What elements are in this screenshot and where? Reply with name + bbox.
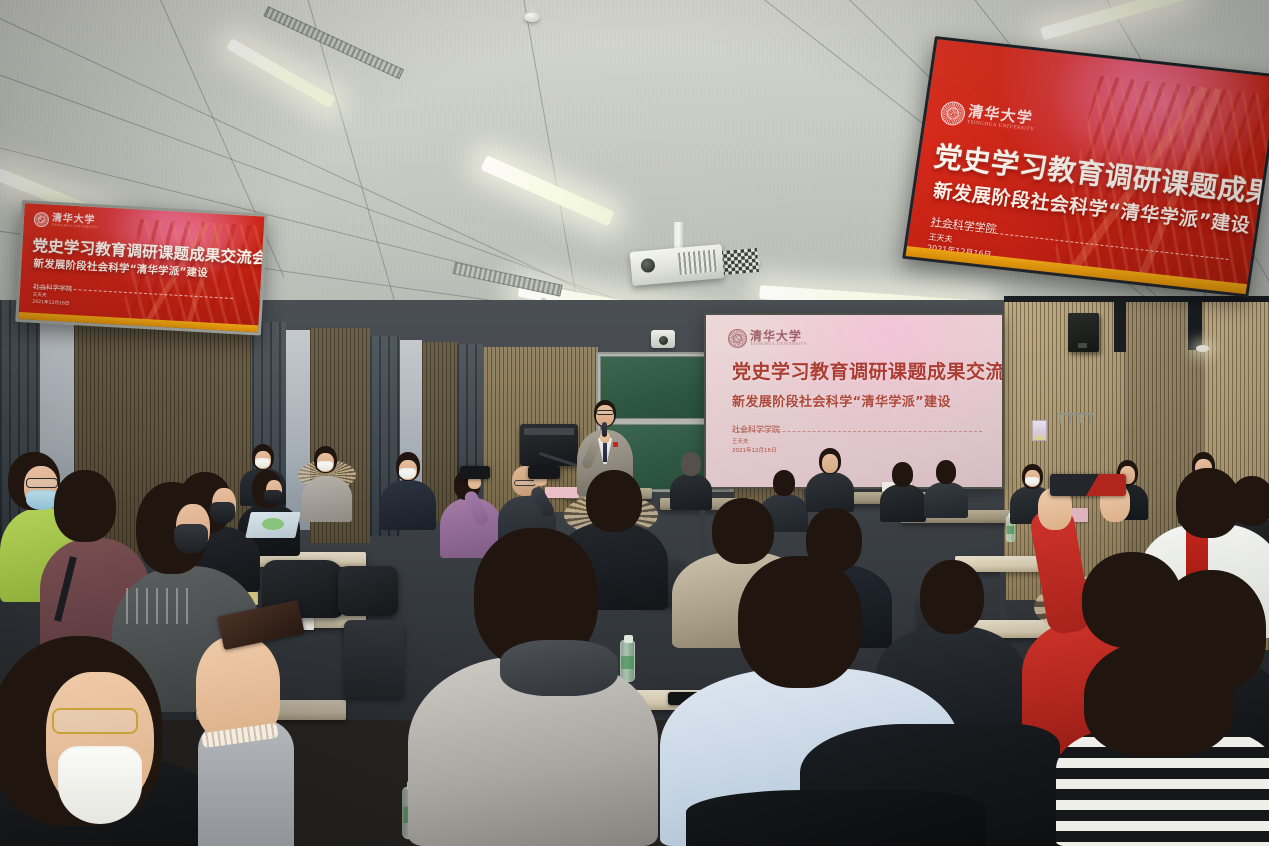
- audience-head: [773, 470, 795, 496]
- audience-head: [892, 462, 913, 487]
- wall-trim: [1004, 296, 1269, 302]
- foreground-audience-member: [408, 528, 658, 846]
- tsinghua-seal-icon: [34, 212, 50, 228]
- audience-head: [681, 452, 701, 476]
- face-mask: [317, 461, 333, 471]
- foreground-audience-member: [1056, 640, 1269, 846]
- recessed-downlight: [1196, 345, 1209, 352]
- audience-head: [738, 556, 862, 688]
- foreground-hand-with-phone: [140, 600, 370, 846]
- right-led-display: 清华大学 TSINGHUA UNIVERSITY 党史学习教育调研课题成果交流会…: [902, 36, 1269, 297]
- wall-camera-icon: [651, 330, 675, 348]
- face-mask: [264, 490, 282, 504]
- audience-body: [302, 476, 352, 522]
- tsinghua-logo: 清华大学 TSINGHUA UNIVERSITY: [34, 212, 99, 231]
- tsinghua-logo: 清华大学 TSINGHUA UNIVERSITY: [939, 100, 1037, 134]
- smartphone: [1050, 474, 1126, 496]
- audience-face: [822, 454, 838, 473]
- audience-member: [300, 446, 354, 522]
- presenter-glasses: [596, 410, 614, 415]
- tsinghua-seal-icon: [728, 329, 747, 348]
- audience-head: [1084, 640, 1234, 756]
- tsinghua-seal-icon: [939, 100, 966, 126]
- screen-date: 2021年12月16日: [732, 446, 777, 454]
- tsinghua-logo: 清华大学 TSINGHUA UNIVERSITY: [728, 329, 807, 348]
- lapel-pin: [613, 442, 618, 447]
- smoke-detector: [524, 12, 540, 22]
- left-led-display: 清华大学 TSINGHUA UNIVERSITY 党史学习教育调研课题成果交流会…: [15, 200, 267, 336]
- banner-presenter: 王天夫: [33, 292, 47, 299]
- banner-date: 2021年12月16日: [32, 299, 69, 307]
- projector-lens: [640, 258, 655, 273]
- audience-member: [806, 448, 854, 512]
- face-mask: [399, 468, 416, 479]
- projector-vent: [678, 250, 718, 275]
- glasses: [514, 480, 536, 486]
- glasses: [52, 708, 138, 734]
- audience-body: [806, 472, 854, 512]
- face-mask: [58, 746, 142, 824]
- wall-trim: [1188, 300, 1202, 350]
- audience-body: [380, 480, 436, 530]
- audience-head: [936, 460, 956, 484]
- handheld-microphone: [602, 422, 607, 437]
- face-mask: [174, 524, 208, 554]
- foreground-jacket: [686, 790, 986, 846]
- screen-presenter: 王天夫: [732, 437, 749, 445]
- wall-notice-sign: [1032, 420, 1047, 441]
- coat-hooks: [1057, 413, 1093, 421]
- laptop-graphic: [262, 518, 284, 530]
- audience-head: [586, 470, 642, 532]
- audience-body: [924, 482, 968, 518]
- smartphone: [460, 466, 490, 479]
- audience-member: [380, 452, 436, 530]
- face-mask: [255, 458, 270, 468]
- audience-member: [924, 460, 968, 518]
- logo-en-text: TSINGHUA UNIVERSITY: [750, 342, 807, 346]
- wall-trim: [1114, 296, 1126, 352]
- logo-en-text: TSINGHUA UNIVERSITY: [52, 223, 98, 229]
- lecture-hall-photo: 清华大学 TSINGHUA UNIVERSITY 党史学习教育调研课题成果交流会…: [0, 0, 1269, 846]
- scarf: [500, 640, 618, 696]
- screen-subtitle: 新发展阶段社会科学“清华学派”建设: [732, 391, 951, 410]
- audience-head: [54, 470, 116, 542]
- screen-title: 党史学习教育调研课题成果交流会: [732, 357, 1004, 384]
- screen-department: 社会科学学院: [732, 424, 780, 435]
- wall-speaker: [1068, 313, 1099, 352]
- audience-head: [712, 498, 774, 564]
